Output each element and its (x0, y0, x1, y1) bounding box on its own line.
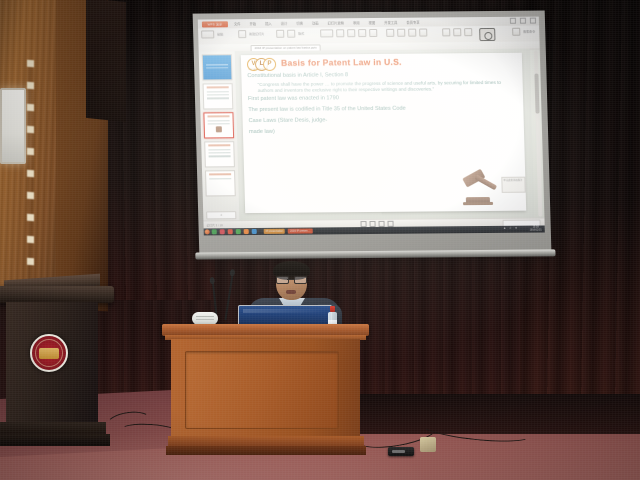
ribbon-label-paste: 粘贴 (217, 32, 223, 36)
tab-view[interactable]: 视图 (369, 20, 376, 25)
minimize-icon[interactable] (510, 18, 516, 24)
ribbon-group-layout[interactable]: 版式 (276, 30, 304, 38)
laptop-screen (238, 305, 332, 326)
thumbnail-slide-5[interactable] (205, 170, 236, 196)
main-lectern (168, 324, 363, 457)
gavel-base-icon (463, 202, 493, 205)
taskbar-open-windows[interactable]: IP presentation 2016 IP presen… (264, 228, 313, 234)
app-logo: WPS 演示 (202, 21, 228, 27)
wall-shadow-top (86, 0, 126, 122)
thumbnail-slide-2[interactable] (203, 83, 234, 109)
logo-tagline: THE LAW OFFICE LLP (248, 69, 268, 71)
volume-icon[interactable]: ♫ (509, 227, 513, 231)
taskbar-quick-launch[interactable] (212, 229, 257, 234)
screen-surface: WPS 演示 文件 开始 插入 设计 切换 动画 幻灯片放映 审阅 视图 开发工… (198, 17, 545, 236)
lens-right (294, 276, 307, 284)
tab-file[interactable]: 文件 (234, 21, 241, 26)
font-size-select[interactable] (336, 29, 344, 37)
clock-date: 2016/12/21 (530, 229, 542, 232)
taskbar-clock[interactable]: 15:38 2016/12/21 (530, 226, 542, 232)
browser-icon[interactable] (220, 229, 225, 234)
new-slide-button[interactable] (238, 30, 246, 38)
bullet-list-button[interactable] (408, 29, 416, 37)
presentation-application: WPS 演示 文件 开始 插入 设计 切换 动画 幻灯片放映 审阅 视图 开发工… (198, 17, 545, 236)
underline-button[interactable] (369, 29, 377, 37)
tab-design[interactable]: 设计 (281, 21, 288, 26)
lecture-hall-photo: WPS 演示 文件 开始 插入 设计 切换 动画 幻灯片放映 审阅 视图 开发工… (0, 0, 640, 480)
thumbnail-slide-1[interactable] (202, 54, 233, 80)
thumbnail-slide-3[interactable] (203, 112, 234, 138)
mail-icon[interactable] (244, 229, 249, 234)
power-plug (420, 437, 436, 452)
window-panel (0, 88, 26, 164)
ribbon-label-search: 搜索命令 (523, 30, 535, 34)
number-list-button[interactable] (419, 29, 427, 37)
arrange-button[interactable] (453, 28, 461, 36)
tab-animations[interactable]: 动画 (312, 20, 319, 25)
screen-record-icon[interactable] (479, 28, 495, 41)
gavel-handle-icon (475, 175, 497, 190)
cloud-icon[interactable] (252, 229, 257, 234)
close-icon[interactable] (530, 18, 536, 24)
scrollbar-thumb[interactable] (534, 74, 539, 114)
ribbon-group-find[interactable]: 搜索命令 (512, 28, 535, 36)
podium-top-surface (0, 286, 114, 303)
thumbnail-slide-4[interactable] (204, 141, 235, 167)
section-button[interactable] (287, 30, 295, 38)
tab-insert[interactable]: 插入 (265, 21, 272, 26)
projection-screen: WPS 演示 文件 开始 插入 设计 切换 动画 幻灯片放映 审阅 视图 开发工… (193, 11, 552, 254)
music-icon[interactable] (236, 229, 241, 234)
side-podium (0, 286, 114, 461)
folder-icon[interactable] (212, 229, 217, 234)
ribbon-label-new-slide: 新建幻灯片 (249, 32, 264, 36)
quick-style-button[interactable] (464, 28, 472, 36)
ribbon-group-font[interactable] (320, 29, 377, 37)
taskbar-task-1[interactable]: IP presentation (264, 229, 286, 235)
bold-button[interactable] (347, 29, 355, 37)
slide-bullet-6: made law) (249, 127, 518, 137)
ribbon-group-drawing[interactable] (442, 28, 472, 36)
slide-counter: 幻灯片 3 / 18 (206, 223, 222, 227)
align-center-button[interactable] (397, 29, 405, 37)
tab-slideshow[interactable]: 幻灯片放映 (327, 20, 344, 25)
window-controls[interactable] (510, 18, 536, 24)
paste-button[interactable] (201, 30, 214, 38)
italic-button[interactable] (358, 29, 366, 37)
wall-light-strip (27, 60, 34, 290)
align-left-button[interactable] (386, 29, 394, 37)
bottle-cap (330, 306, 335, 312)
presenter-mouth (286, 290, 296, 294)
tab-developer[interactable]: 开发工具 (384, 20, 397, 25)
ribbon-group-paragraph[interactable] (386, 29, 427, 37)
current-slide[interactable]: V L P THE LAW OFFICE LLP Basis for Paten… (241, 53, 526, 213)
ribbon-group-paste[interactable]: 粘贴 (201, 30, 223, 38)
ribbon-label-layout: 版式 (298, 32, 304, 36)
network-icon[interactable]: ▲ (503, 227, 507, 231)
tab-transitions[interactable]: 切换 (296, 21, 303, 26)
layout-button[interactable] (276, 30, 284, 38)
slide-bullet-2: “Congress shall have the power … to prom… (258, 80, 517, 94)
lens-left (276, 276, 289, 284)
lectern-body (171, 339, 360, 439)
ribbon-group-new-slide[interactable]: 新建幻灯片 (238, 30, 264, 38)
tab-home[interactable]: 开始 (249, 21, 256, 26)
start-orb-icon[interactable] (205, 229, 210, 234)
podium-base (0, 434, 110, 446)
eyeglasses-icon (276, 276, 307, 282)
lectern-front-panel (185, 351, 339, 429)
slide-thumbnail-pane[interactable] (199, 51, 241, 221)
gavel-illustration (461, 171, 500, 205)
font-family-select[interactable] (320, 29, 333, 37)
shapes-button[interactable] (442, 28, 450, 36)
add-slide-button[interactable] (206, 211, 236, 219)
maximize-icon[interactable] (520, 18, 526, 24)
taskbar-task-2[interactable]: 2016 IP presen… (288, 228, 312, 234)
input-method-icon[interactable]: ● (515, 227, 519, 231)
tab-review[interactable]: 审阅 (353, 20, 360, 25)
chat-icon[interactable] (228, 229, 233, 234)
power-adapter (388, 447, 414, 456)
app-logo-label: WPS 演示 (202, 21, 228, 27)
slide-body[interactable]: Constitutional basis in Article I, Secti… (247, 71, 518, 137)
slide-editing-area[interactable]: V L P THE LAW OFFICE LLP Basis for Paten… (235, 49, 535, 222)
lectern-base (166, 446, 366, 455)
university-crest-icon (30, 334, 68, 372)
search-icon[interactable] (512, 28, 520, 36)
ribbon-tab-strip[interactable]: 文件 开始 插入 设计 切换 动画 幻灯片放映 审阅 视图 开发工具 会员专享 (234, 20, 420, 27)
podium-body (6, 302, 98, 424)
system-tray[interactable]: ▲ ♫ ● (503, 227, 519, 231)
vlp-logo: V L P THE LAW OFFICE LLP (247, 58, 277, 71)
notes-placeholder[interactable]: 单击此处添加备注 (501, 177, 525, 193)
tab-member[interactable]: 会员专享 (406, 20, 419, 25)
slide-title[interactable]: Basis for Patent Law in U.S. (281, 56, 402, 67)
